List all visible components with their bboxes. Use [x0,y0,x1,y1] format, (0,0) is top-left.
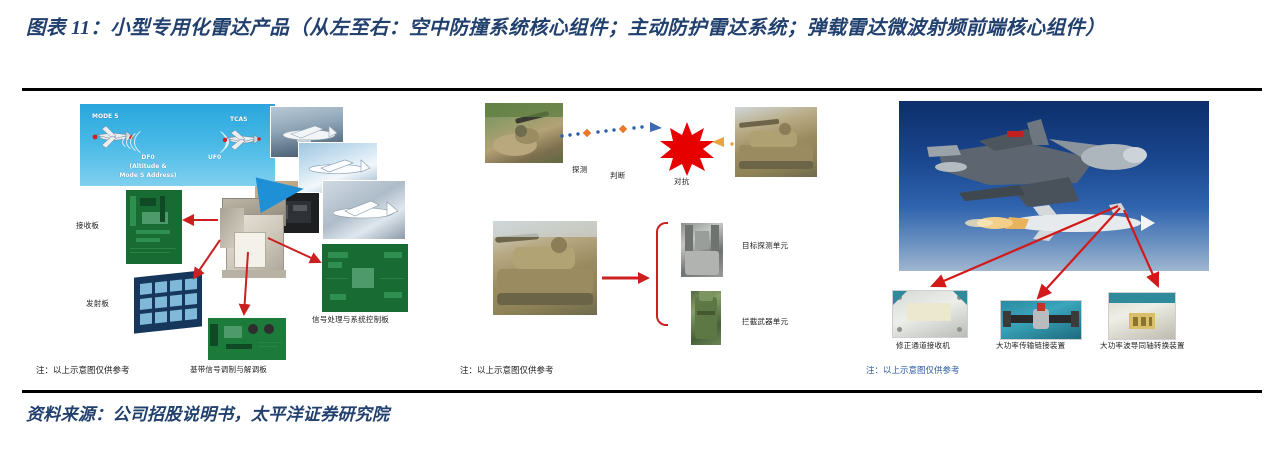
photo-correction-channel-receiver [892,290,968,338]
label-tcas: TCAS [230,116,247,123]
grouping-brace [656,222,668,326]
source-line: 资料来源：公司招股说明书，太平洋证券研究院 [26,400,389,425]
label-signal-processing-board: 信号处理与系统控制板 [312,314,389,325]
photo-transmitter-board [134,270,202,333]
explosion-burst-icon [660,122,714,176]
label-baseband-board: 基带信号调制与解调板 [190,364,267,375]
label-df0-sub2: Mode S Address) [98,172,198,179]
divider-bottom [22,390,1262,393]
label-transmitter-board: 发射板 [86,298,109,309]
label-df0-sub1: (Altitude & [98,163,198,170]
label-detect: 探测 [572,164,587,175]
label-target-detection-unit: 目标探测单元 [742,240,788,251]
blue-pointer-arrow [256,171,307,213]
label-uf0: UF0 [208,154,221,161]
divider-top [22,88,1262,91]
photo-receiver-board [126,190,182,264]
figure-page: 图表 11：小型专用化雷达产品（从左至右：空中防撞系统核心组件；主动防护雷达系统… [0,0,1281,449]
photo-tank-top [734,106,818,178]
photo-baseband-board [208,318,286,360]
label-mode5: MODE 5 [92,113,118,120]
panel-active-protection-radar: 探测 判断 对抗 [446,92,866,388]
note-left: 注：以上示意图仅供参考 [36,364,130,376]
photo-target-detection-unit [680,222,724,278]
label-high-power-transmission-device: 大功率传输链接装置 [996,340,1065,351]
tcas-sky-diagram: MODE 5 TCAS [80,104,275,186]
label-interceptor-weapon-unit: 拦截武器单元 [742,316,788,327]
photo-interceptor-weapon-unit [690,290,722,346]
panel-missile-radar-frontend: 修正通道接收机 大功率传输链接装置 大功率波导同轴转换装置 注：以上示意图仅供参… [870,92,1262,388]
photo-high-power-transmission-device [1000,300,1082,340]
note-mid: 注：以上示意图仅供参考 [460,364,554,376]
photo-airliner-3 [322,180,406,240]
photo-waveguide-coax-converter [1108,292,1176,340]
label-df0: DF0 [110,154,186,161]
panel-air-collision-avoidance: MODE 5 TCAS [22,92,442,388]
note-right: 注：以上示意图仅供参考 [866,364,960,376]
label-waveguide-coax-converter: 大功率波导同轴转换装置 [1100,340,1185,351]
photo-signal-processing-board [322,244,408,312]
label-counter: 对抗 [674,176,689,187]
tank-breakdown-arrow [602,268,652,288]
photo-fighter-jet-missile [898,100,1210,272]
aircraft-tcas-icon [220,126,264,154]
label-receiver-board: 接收板 [76,220,99,231]
photo-tank-bottom [492,220,598,316]
photo-soldier-launcher [484,102,564,164]
label-correction-channel-receiver: 修正通道接收机 [896,340,950,351]
page-title: 图表 11：小型专用化雷达产品（从左至右：空中防撞系统核心组件；主动防护雷达系统… [26,14,1261,44]
label-judge: 判断 [610,170,625,181]
